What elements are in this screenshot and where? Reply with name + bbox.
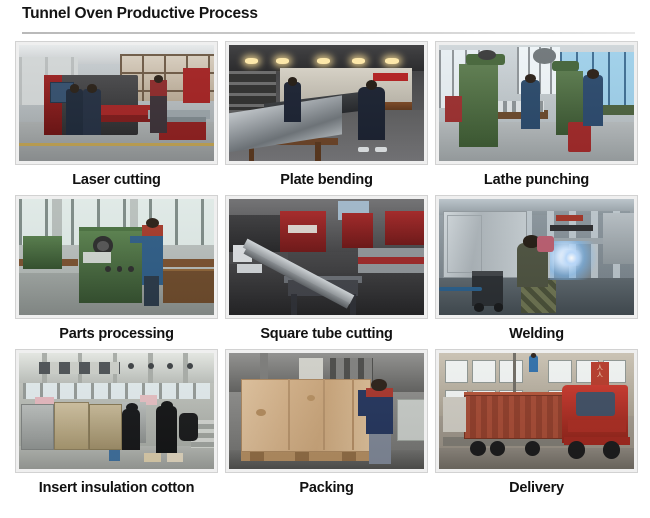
page-title: Tunnel Oven Productive Process	[22, 5, 258, 23]
process-card[interactable]	[225, 349, 428, 473]
process-card[interactable]	[225, 195, 428, 319]
process-caption: Delivery	[435, 473, 638, 503]
process-card[interactable]: 人人	[435, 349, 638, 473]
process-caption: Packing	[225, 473, 428, 503]
photo-delivery: 人人	[439, 353, 634, 469]
process-caption: Laser cutting	[15, 165, 218, 195]
process-step-3[interactable]: Lathe punching	[435, 41, 638, 195]
process-step-6[interactable]: Welding	[435, 195, 638, 349]
process-caption: Parts processing	[15, 319, 218, 349]
photo-laser-cutting	[19, 45, 214, 161]
process-card[interactable]	[15, 195, 218, 319]
process-step-1[interactable]: Laser cutting	[15, 41, 218, 195]
process-caption: Welding	[435, 319, 638, 349]
process-step-2[interactable]: Plate bending	[225, 41, 428, 195]
process-step-8[interactable]: Packing	[225, 349, 428, 503]
process-step-5[interactable]: Square tube cutting	[225, 195, 428, 349]
process-step-4[interactable]: Parts processing	[15, 195, 218, 349]
photo-lathe-punching	[439, 45, 634, 161]
photo-parts-processing	[19, 199, 214, 315]
photo-insert-insulation-cotton	[19, 353, 214, 469]
process-step-7[interactable]: Insert insulation cotton	[15, 349, 218, 503]
process-gallery-page: Tunnel Oven Productive Process Las	[0, 0, 650, 518]
process-grid: Laser cutting Plate	[15, 41, 638, 503]
process-caption: Square tube cutting	[225, 319, 428, 349]
process-card[interactable]	[15, 41, 218, 165]
title-divider	[22, 32, 635, 34]
photo-packing	[229, 353, 424, 469]
process-card[interactable]	[15, 349, 218, 473]
process-card[interactable]	[435, 195, 638, 319]
process-caption: Insert insulation cotton	[15, 473, 218, 503]
process-card[interactable]	[225, 41, 428, 165]
process-caption: Plate bending	[225, 165, 428, 195]
photo-square-tube-cutting	[229, 199, 424, 315]
photo-welding	[439, 199, 634, 315]
process-card[interactable]	[435, 41, 638, 165]
process-caption: Lathe punching	[435, 165, 638, 195]
process-step-9[interactable]: 人人 Delivery	[435, 349, 638, 503]
photo-plate-bending	[229, 45, 424, 161]
